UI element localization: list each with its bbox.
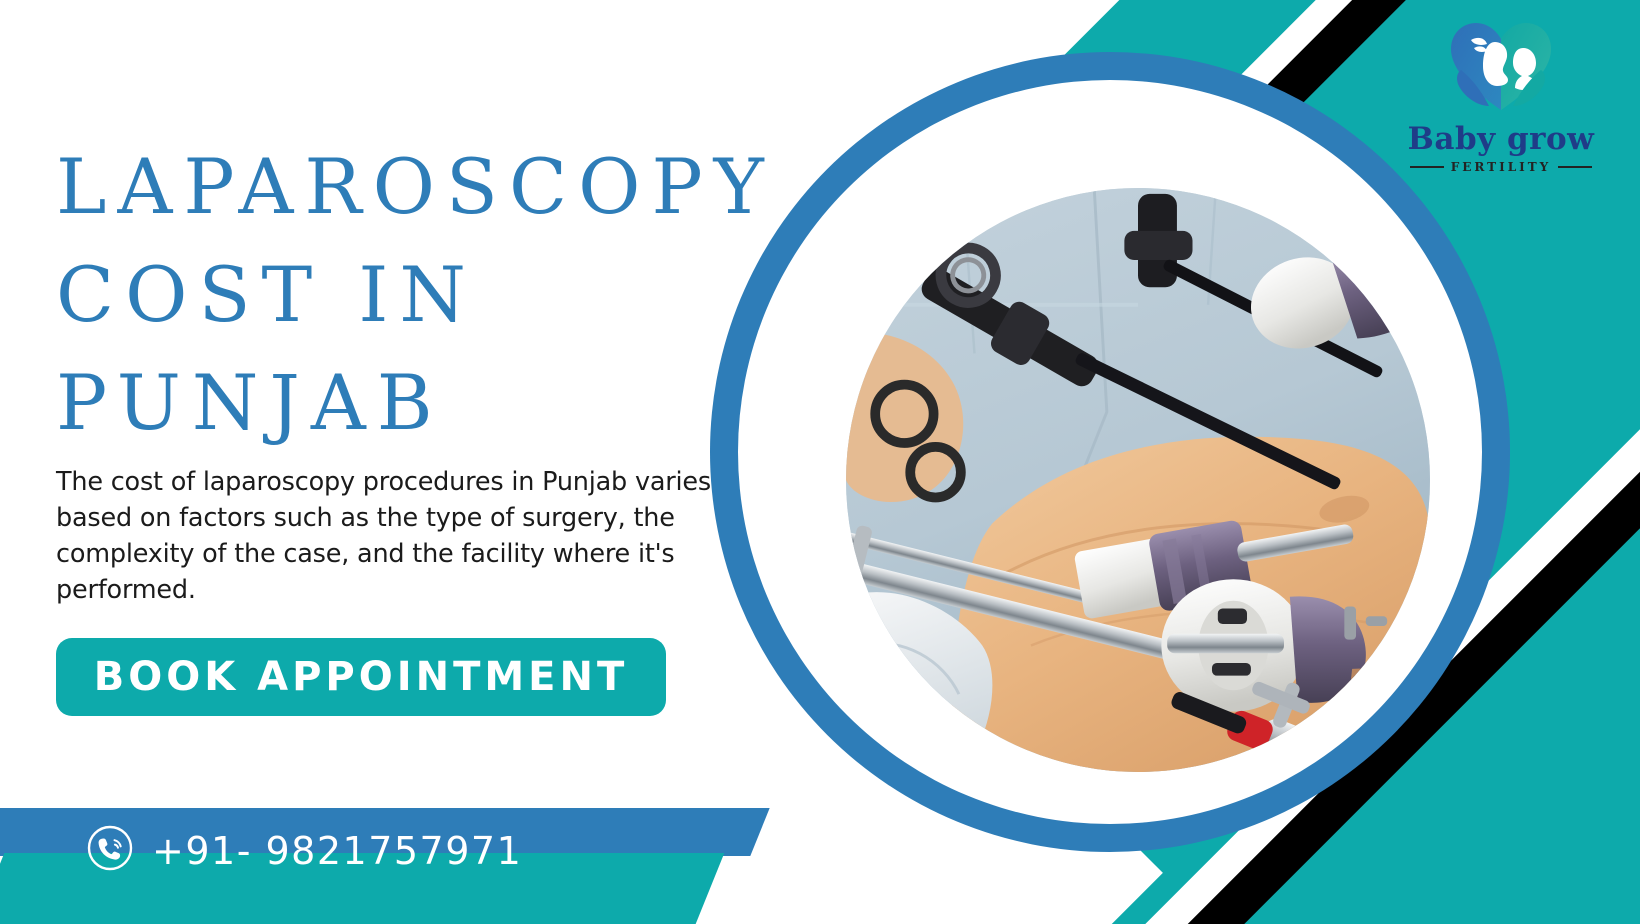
logo-tagline-row: FERTILITY xyxy=(1406,160,1596,174)
phone-number-text: +91- 9821757971 xyxy=(152,829,522,873)
logo-tagline-text: FERTILITY xyxy=(1451,160,1552,174)
laparoscopic-surgery-photo xyxy=(846,188,1430,772)
contact-phone[interactable]: +91- 9821757971 xyxy=(86,824,522,877)
heart-mother-baby-icon xyxy=(1406,18,1596,119)
phone-call-icon xyxy=(86,824,134,877)
logo-name-text: Baby grow xyxy=(1406,121,1596,157)
brand-logo[interactable]: Baby grow FERTILITY xyxy=(1406,18,1596,174)
book-appointment-button[interactable]: Book Appointment xyxy=(56,638,666,716)
promotional-banner: Laparoscopy Cost In Punjab The cost of l… xyxy=(0,0,1640,924)
logo-rule-right xyxy=(1558,166,1592,168)
description-text: The cost of laparoscopy procedures in Pu… xyxy=(56,464,736,608)
page-title: Laparoscopy Cost In Punjab xyxy=(56,133,856,457)
logo-rule-left xyxy=(1410,166,1444,168)
